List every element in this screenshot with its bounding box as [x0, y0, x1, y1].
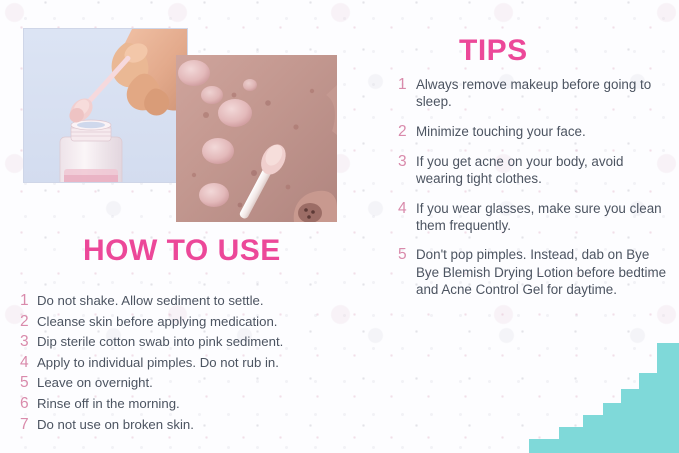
list-item: 4 Apply to individual pimples. Do not ru… — [20, 354, 380, 372]
list-item: 1 Always remove makeup before going to s… — [398, 76, 670, 110]
list-item: 1 Do not shake. Allow sediment to settle… — [20, 292, 380, 310]
acne-skin-photo — [176, 55, 337, 222]
list-item-text: Always remove makeup before going to sle… — [416, 76, 670, 110]
list-item-text: Don't pop pimples. Instead, dab on Bye B… — [416, 246, 670, 298]
how-to-use-heading: HOW TO USE — [83, 236, 281, 266]
list-item-text: Rinse off in the morning. — [37, 395, 380, 413]
list-item-number: 1 — [398, 76, 416, 93]
list-item-number: 5 — [398, 246, 416, 263]
list-item-number: 3 — [398, 153, 416, 170]
list-item-number: 3 — [20, 333, 37, 351]
list-item-text: Do not shake. Allow sediment to settle. — [37, 292, 380, 310]
list-item-number: 4 — [20, 354, 37, 372]
list-item-number: 5 — [20, 374, 37, 392]
tips-heading: TIPS — [459, 36, 528, 66]
list-item: 6 Rinse off in the morning. — [20, 395, 380, 413]
list-item-text: Do not use on broken skin. — [37, 416, 380, 434]
list-item: 3 If you get acne on your body, avoid we… — [398, 153, 670, 187]
list-item-text: Dip sterile cotton swab into pink sedime… — [37, 333, 380, 351]
list-item-text: If you get acne on your body, avoid wear… — [416, 153, 670, 187]
list-item: 4 If you wear glasses, make sure you cle… — [398, 200, 670, 234]
list-item-text: Apply to individual pimples. Do not rub … — [37, 354, 380, 372]
list-item-number: 2 — [398, 123, 416, 140]
list-item-text: Cleanse skin before applying medication. — [37, 313, 380, 331]
list-item: 7 Do not use on broken skin. — [20, 416, 380, 434]
list-item-text: Leave on overnight. — [37, 374, 380, 392]
tips-list: 1 Always remove makeup before going to s… — [398, 76, 670, 311]
list-item-number: 1 — [20, 292, 37, 310]
list-item-number: 4 — [398, 200, 416, 217]
list-item: 2 Cleanse skin before applying medicatio… — [20, 313, 380, 331]
list-item-text: If you wear glasses, make sure you clean… — [416, 200, 670, 234]
how-to-use-list: 1 Do not shake. Allow sediment to settle… — [20, 292, 380, 436]
swab-over-bottle-photo — [23, 28, 188, 183]
list-item-number: 6 — [20, 395, 37, 413]
list-item: 2 Minimize touching your face. — [398, 123, 670, 140]
list-item-text: Minimize touching your face. — [416, 123, 670, 140]
list-item: 3 Dip sterile cotton swab into pink sedi… — [20, 333, 380, 351]
list-item-number: 2 — [20, 313, 37, 331]
teal-stepped-decoration — [529, 343, 679, 453]
product-instruction-graphic: TIPS 1 Always remove makeup before going… — [0, 0, 679, 453]
list-item: 5 Don't pop pimples. Instead, dab on Bye… — [398, 246, 670, 298]
list-item: 5 Leave on overnight. — [20, 374, 380, 392]
list-item-number: 7 — [20, 416, 37, 434]
